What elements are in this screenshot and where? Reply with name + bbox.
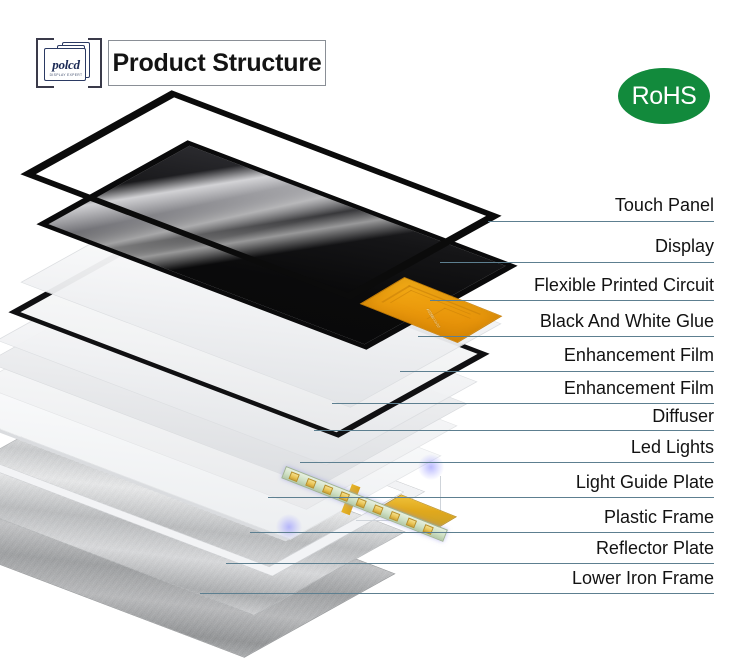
leader-line-display: [440, 262, 714, 263]
leader-line-lower-iron-frame: [200, 593, 714, 594]
label-enhancement-film-2: Enhancement Film: [564, 378, 714, 398]
logo-sheet-front-icon: polcd DISPLAY EXPERT: [44, 48, 86, 81]
label-diffuser: Diffuser: [652, 406, 714, 426]
leader-line-fpc: [430, 300, 714, 301]
leader-line-enhancement-film-1: [400, 371, 714, 372]
label-lower-iron-frame: Lower Iron Frame: [572, 568, 714, 588]
fpc-trace: [390, 290, 412, 303]
leader-line-plastic-frame: [250, 532, 714, 533]
led-chip: [305, 478, 316, 488]
label-led-lights: Led Lights: [631, 437, 714, 457]
leader-line-led-lights: [300, 462, 714, 463]
led-chip: [406, 518, 417, 528]
leader-line-light-guide-plate: [268, 497, 714, 498]
label-reflector-plate: Reflector Plate: [596, 538, 714, 558]
leader-line-touch-panel: [488, 221, 714, 222]
led-chip: [372, 505, 383, 515]
led-chip: [322, 485, 333, 495]
label-display: Display: [655, 236, 714, 256]
label-bw-glue: Black And White Glue: [540, 311, 714, 331]
label-enhancement-film-1: Enhancement Film: [564, 345, 714, 365]
label-light-guide-plate: Light Guide Plate: [576, 472, 714, 492]
label-plastic-frame: Plastic Frame: [604, 507, 714, 527]
leader-line-reflector-plate: [226, 563, 714, 564]
page-title: Product Structure: [112, 49, 321, 78]
led-chip: [389, 511, 400, 521]
logo-wordmark: polcd: [47, 58, 85, 71]
led-chip: [422, 524, 433, 534]
rohs-label: RoHS: [632, 84, 697, 109]
led-chip: [288, 472, 299, 482]
leader-line-enhancement-film-2: [332, 403, 714, 404]
label-fpc: Flexible Printed Circuit: [534, 275, 714, 295]
label-touch-panel: Touch Panel: [615, 195, 714, 215]
led-chip: [355, 498, 366, 508]
rohs-badge: RoHS: [618, 68, 710, 124]
leader-line-bw-glue: [418, 336, 714, 337]
exploded-layer-diagram: MTDS881-V0-P13: [0, 80, 520, 610]
leader-line-diffuser: [314, 430, 714, 431]
logo-subtext: DISPLAY EXPERT: [45, 73, 87, 77]
polcd-logo: polcd DISPLAY EXPERT: [44, 42, 96, 84]
product-structure-poster: polcd DISPLAY EXPERT Product Structure R…: [0, 0, 750, 668]
